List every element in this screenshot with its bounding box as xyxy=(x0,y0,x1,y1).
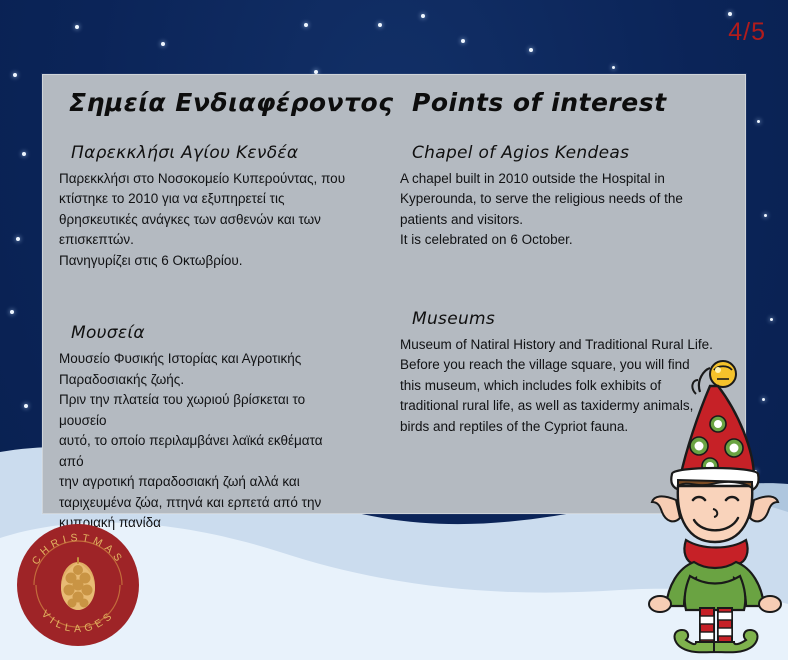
text-line: Παρεκκλήσι στο Νοσοκομείο Κυπερούντας, π… xyxy=(59,169,348,190)
text-line: επισκεπτών. xyxy=(59,230,348,251)
section-heading: Παρεκκλήσι Αγίου Κενδέα xyxy=(57,143,378,163)
text-line: Μουσείο Φυσικής Ιστορίας και Αγροτικής xyxy=(59,349,348,370)
star-icon xyxy=(13,73,17,77)
text-line: θρησκευτικές ανάγκες των ασθενών και των xyxy=(59,210,348,231)
section-greek-museums: Μουσεία Μουσείο Φυσικής Ιστορίας και Αγρ… xyxy=(57,323,378,534)
christmas-villages-logo[interactable]: CHRISTMAS VILLAGES xyxy=(16,523,140,647)
section-greek-chapel: Παρεκκλήσι Αγίου Κενδέα Παρεκκλήσι στο Ν… xyxy=(57,143,378,272)
star-icon xyxy=(10,310,14,314)
section-heading: Chapel of Agios Kendeas xyxy=(398,143,735,163)
section-body: Παρεκκλήσι στο Νοσοκομείο Κυπερούντας, π… xyxy=(57,169,378,272)
star-icon xyxy=(764,214,767,217)
section-body: Μουσείο Φυσικής Ιστορίας και ΑγροτικήςΠα… xyxy=(57,349,378,534)
text-line: Παραδοσιακής ζωής. xyxy=(59,370,348,391)
slide-canvas: 4/5 Σημεία Ενδιαφέροντος Παρεκκλήσι Αγίο… xyxy=(0,0,788,660)
text-line: ταριχευμένα ζώα, πτηνά και ερπετά από τη… xyxy=(59,493,348,514)
elf-ear-right xyxy=(750,496,778,521)
elf-face xyxy=(678,486,752,542)
section-body: A chapel built in 2010 outside the Hospi… xyxy=(398,169,735,251)
star-icon xyxy=(757,120,760,123)
text-line: Πριν την πλατεία του χωριού βρίσκεται το… xyxy=(59,390,348,431)
star-icon xyxy=(529,48,533,52)
text-line: It is celebrated on 6 October. xyxy=(400,230,721,251)
star-icon xyxy=(421,14,425,18)
section-english-chapel: Chapel of Agios Kendeas A chapel built i… xyxy=(398,143,735,251)
star-icon xyxy=(461,39,465,43)
text-line: A chapel built in 2010 outside the Hospi… xyxy=(400,169,721,190)
star-icon xyxy=(304,23,308,27)
column-title-greek: Σημεία Ενδιαφέροντος xyxy=(57,89,378,117)
column-spacer xyxy=(57,293,378,323)
star-icon xyxy=(378,23,382,27)
text-line: Πανηγυρίζει στις 6 Οκτωβρίου. xyxy=(59,251,348,272)
star-icon xyxy=(612,66,615,69)
page-counter: 4/5 xyxy=(728,18,766,47)
elf-hand-right xyxy=(759,596,781,612)
section-heading: Museums xyxy=(398,309,735,329)
star-icon xyxy=(161,42,165,46)
text-line: αυτό, το οποίο περιλαμβάνει λαϊκά εκθέμα… xyxy=(59,431,348,472)
column-spacer xyxy=(398,273,735,309)
elf-hand-left xyxy=(649,596,671,612)
elf-ear-left xyxy=(652,496,680,521)
star-icon xyxy=(770,318,773,321)
star-icon xyxy=(22,152,26,156)
text-line: Kyperounda, to serve the religious needs… xyxy=(400,189,721,210)
star-icon xyxy=(75,25,79,29)
elf-character xyxy=(638,354,788,654)
column-greek: Σημεία Ενδιαφέροντος Παρεκκλήσι Αγίου Κε… xyxy=(43,75,394,513)
text-line: κτίστηκε το 2010 για να εξυπηρετεί τις xyxy=(59,189,348,210)
star-icon xyxy=(16,237,20,241)
star-icon xyxy=(728,12,732,16)
section-heading: Μουσεία xyxy=(57,323,378,343)
text-line: Museum of Natiral History and Traditiona… xyxy=(400,335,721,356)
text-line: την αγροτική παραδοσιακή ζωή αλλά και xyxy=(59,472,348,493)
column-title-english: Points of interest xyxy=(398,89,735,117)
text-line: patients and visitors. xyxy=(400,210,721,231)
